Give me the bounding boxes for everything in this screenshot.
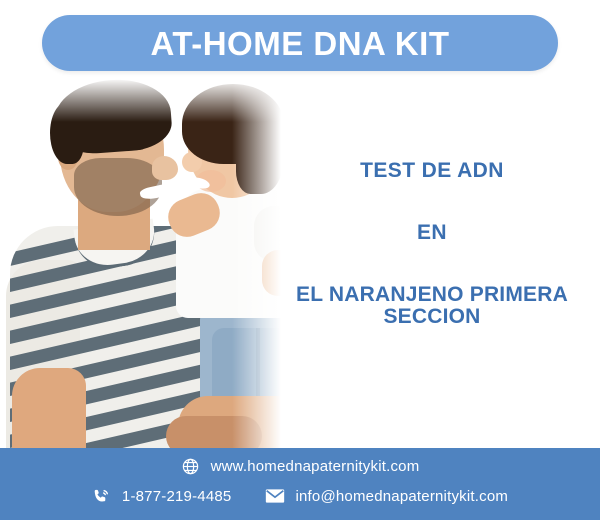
footer-contact-row: 1-877-219-4485 info@homednapaternitykit.… — [0, 486, 600, 506]
service-line-2: EN — [272, 222, 592, 244]
phone-text: 1-877-219-4485 — [122, 489, 232, 504]
photo-fade-top — [0, 78, 300, 122]
man-nose — [152, 156, 178, 180]
phone-icon — [92, 486, 112, 506]
man-arm — [12, 368, 86, 450]
service-text-block: TEST DE ADN EN EL NARANJENO PRIMERA SECC… — [272, 160, 592, 328]
phone-contact[interactable]: 1-877-219-4485 — [92, 486, 232, 506]
text-spacer-1 — [272, 182, 592, 222]
service-location: EL NARANJENO PRIMERA SECCION — [272, 284, 592, 328]
email-contact[interactable]: info@homednapaternitykit.com — [265, 486, 508, 506]
globe-icon — [181, 456, 201, 476]
envelope-icon — [265, 486, 285, 506]
email-text: info@homednapaternitykit.com — [295, 489, 508, 504]
text-spacer-2 — [272, 244, 592, 284]
father-holding-toddler-photo — [0, 78, 300, 450]
contact-footer: www.homednapaternitykit.com 1-877-219-44… — [0, 448, 600, 520]
website-contact[interactable]: www.homednapaternitykit.com — [181, 456, 420, 476]
website-text: www.homednapaternitykit.com — [211, 459, 420, 474]
photo-canvas — [0, 78, 300, 450]
dna-kit-banner: AT-HOME DNA KIT — [0, 0, 600, 520]
header-pill: AT-HOME DNA KIT — [42, 15, 558, 71]
service-line-1: TEST DE ADN — [272, 160, 592, 182]
footer-website-row: www.homednapaternitykit.com — [0, 456, 600, 476]
page-title: AT-HOME DNA KIT — [151, 27, 450, 60]
